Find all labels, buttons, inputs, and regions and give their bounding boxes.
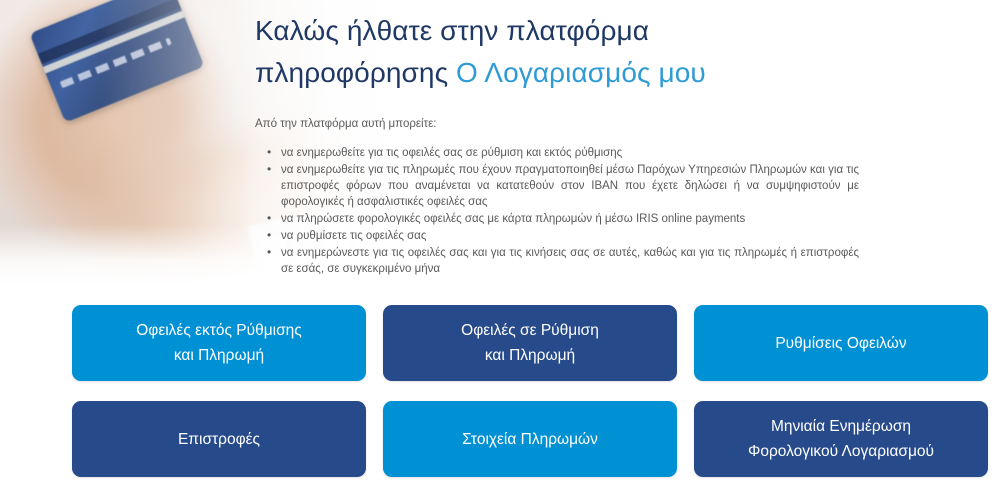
page-title-line-2: πληροφόρησης [255,57,456,88]
tile-debts-outside-settlement-and-payment[interactable]: Οφειλές εκτός Ρύθμισης και Πληρωμή [72,305,366,381]
tile-grid: Οφειλές εκτός Ρύθμισης και Πληρωμή Οφειλ… [72,305,988,477]
hero-banner: Καλώς ήλθατε στην πλατφόρμα πληροφόρησης… [0,0,1000,284]
page-title-accent: Ο Λογαριασμός μου [456,57,706,88]
hero-content: Καλώς ήλθατε στην πλατφόρμα πληροφόρησης… [255,10,835,278]
list-item: να ενημερωθείτε για τις πληρωμές που έχο… [281,162,859,210]
page-root: Καλώς ήλθατε στην πλατφόρμα πληροφόρησης… [0,0,1000,492]
list-item: να πληρώσετε φορολογικές οφειλές σας με … [281,211,859,227]
list-item: να ενημερώνεστε για τις οφειλές σας και … [281,245,859,277]
tile-debt-settlements[interactable]: Ρυθμίσεις Οφειλών [694,305,988,381]
tile-payment-details[interactable]: Στοιχεία Πληρωμών [383,401,677,477]
page-title-line-1: Καλώς ήλθατε στην πλατφόρμα [255,15,649,46]
intro-text: Από την πλατφόρμα αυτή μπορείτε: [255,116,835,132]
list-item: να ρυθμίσετε τις οφειλές σας [281,228,859,244]
list-item: να ενημερωθείτε για τις οφειλές σας σε ρ… [281,145,859,161]
feature-list: να ενημερωθείτε για τις οφειλές σας σε ρ… [255,145,859,277]
tile-monthly-tax-account-update[interactable]: Μηνιαία Ενημέρωση Φορολογικού Λογαριασμο… [694,401,988,477]
tile-debts-in-settlement-and-payment[interactable]: Οφειλές σε Ρύθμιση και Πληρωμή [383,305,677,381]
page-title: Καλώς ήλθατε στην πλατφόρμα πληροφόρησης… [255,10,835,94]
tile-refunds[interactable]: Επιστροφές [72,401,366,477]
